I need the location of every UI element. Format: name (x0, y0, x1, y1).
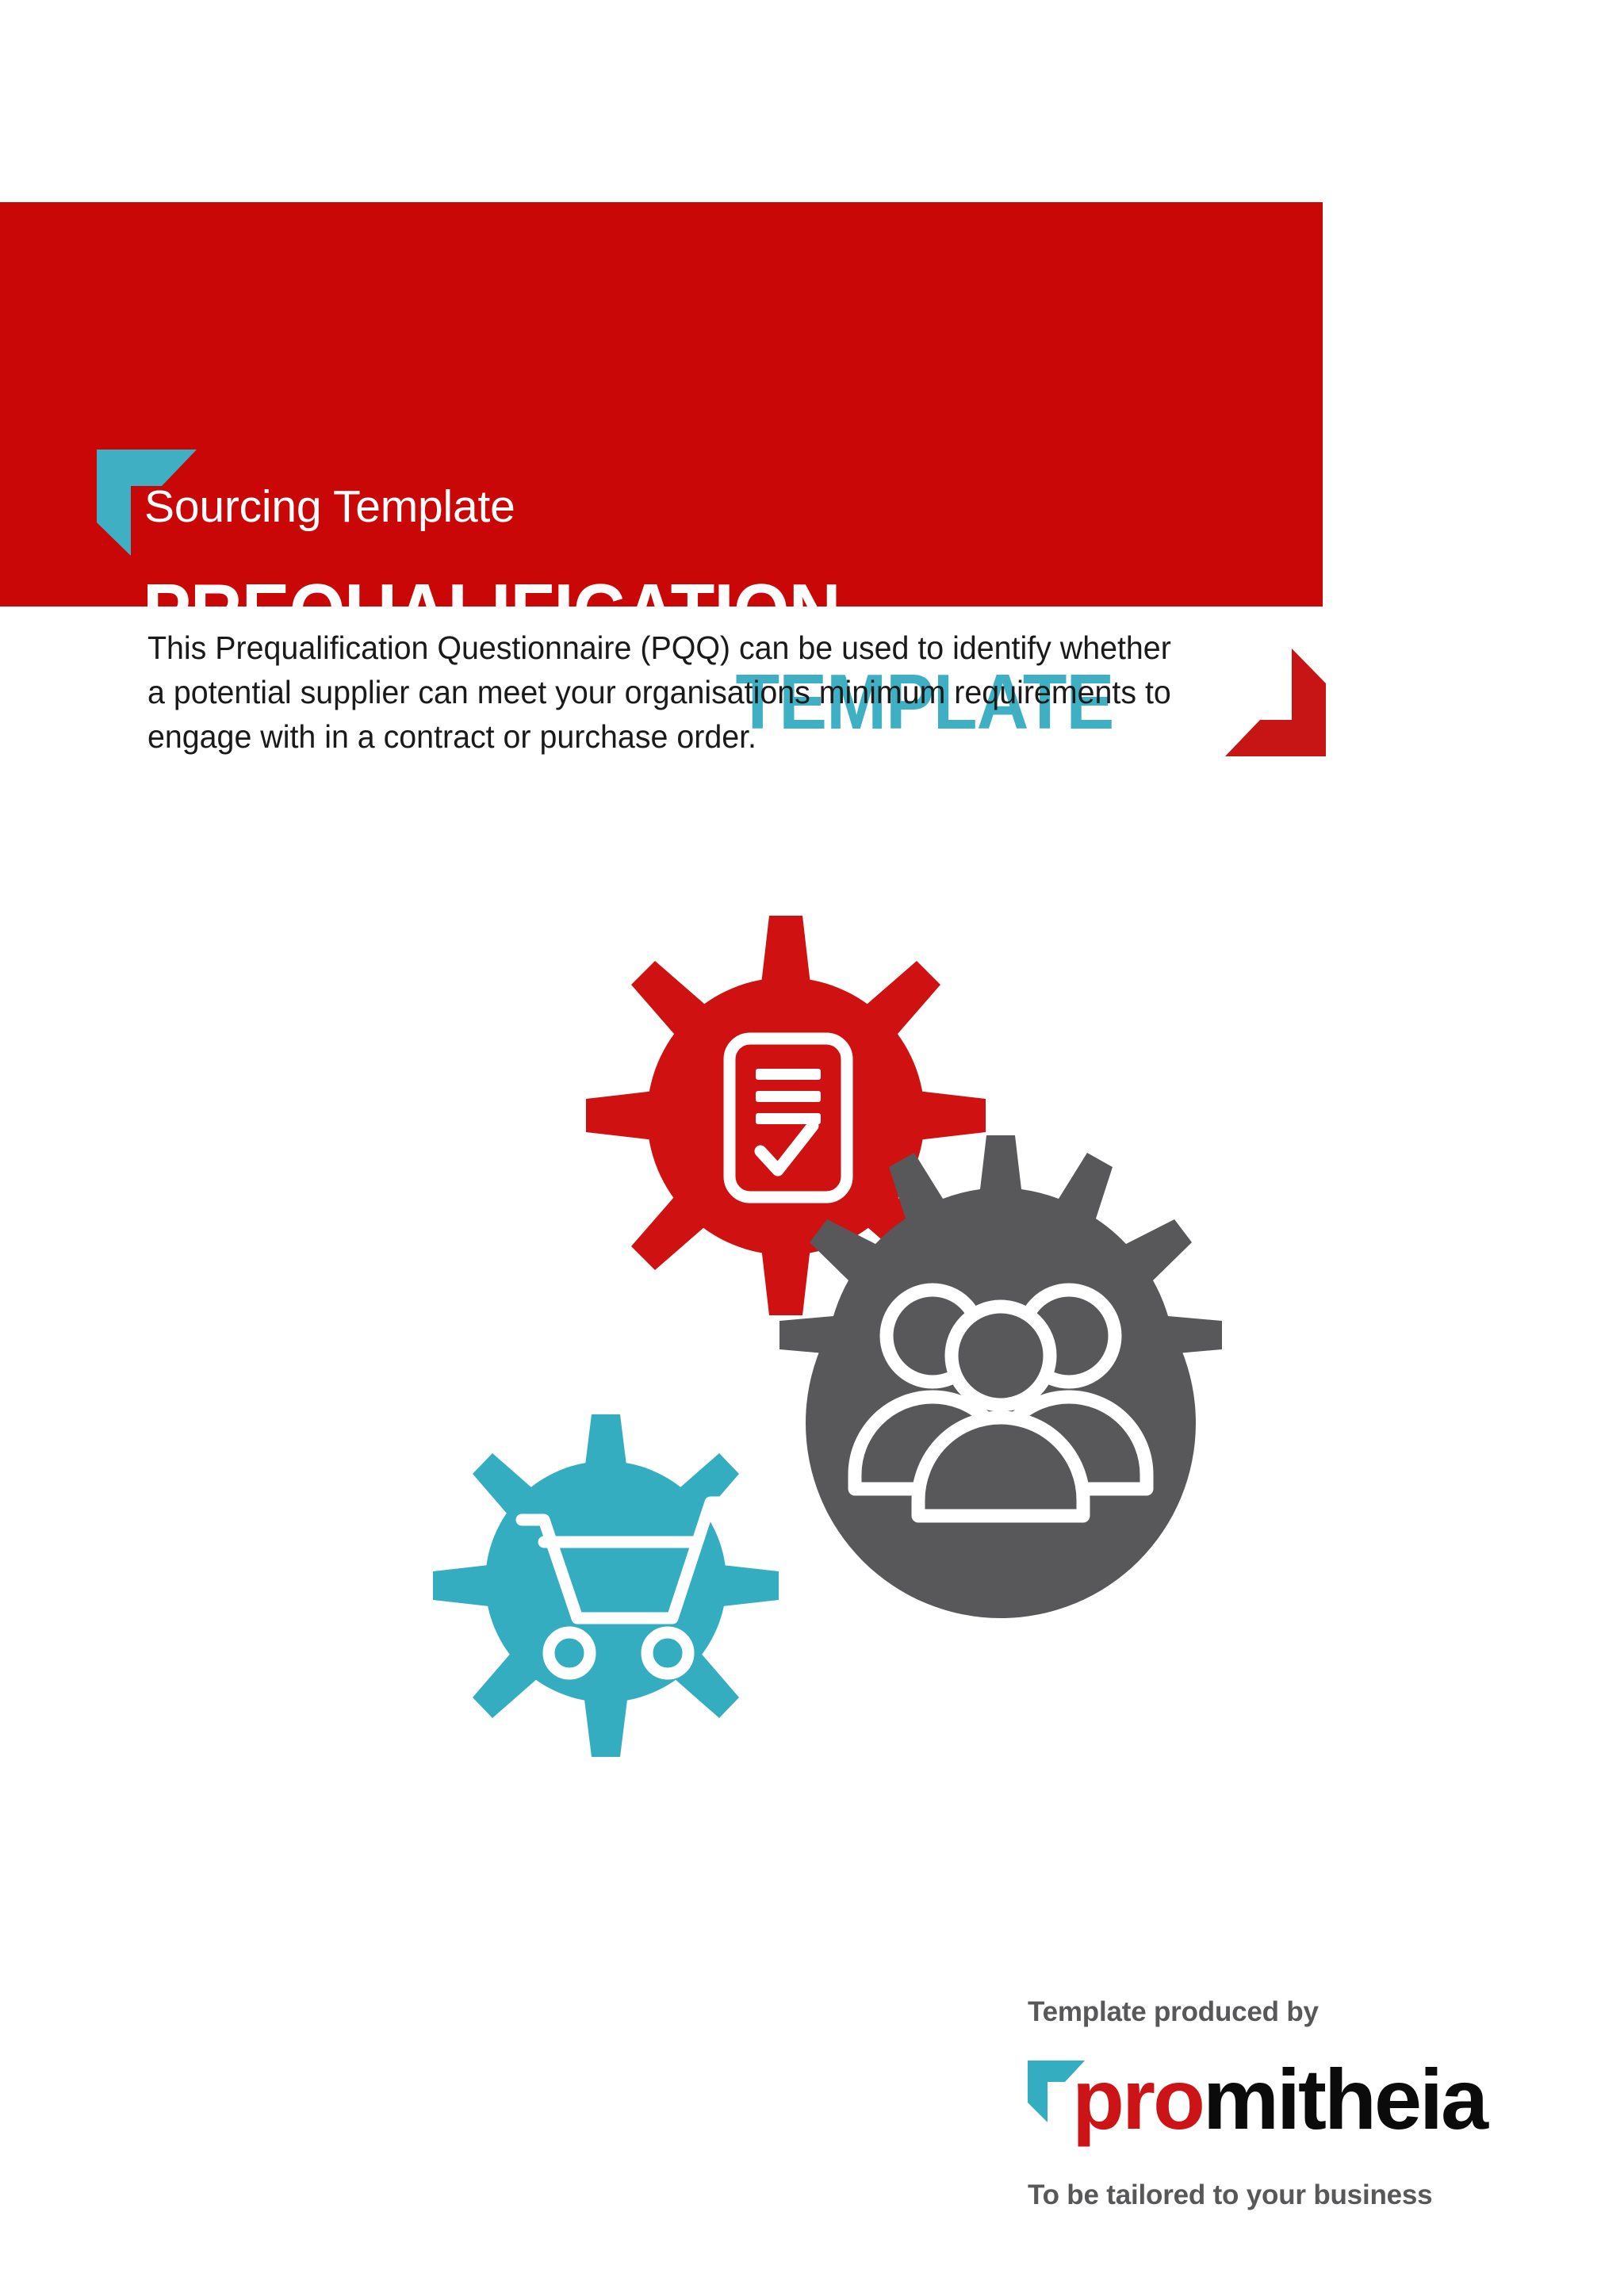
logo-word-mitheia: mitheia (1203, 2051, 1486, 2147)
eyebrow-label: Sourcing Template (144, 484, 515, 530)
footer-block: Template produced by promitheia To be ta… (1028, 1998, 1519, 2209)
produced-by-label: Template produced by (1028, 1998, 1519, 2026)
footer-tagline: To be tailored to your business (1028, 2181, 1519, 2209)
logo-word-pro: pro (1072, 2051, 1203, 2147)
shopping-cart-gear (433, 1414, 779, 1757)
three-interlocking-gears-graphic (373, 904, 1300, 1800)
promitheia-wordmark: promitheia (1072, 2053, 1486, 2147)
document-cover-page: Sourcing Template PREQUALIFICATION QUEST… (0, 0, 1624, 2296)
header-banner: Sourcing Template PREQUALIFICATION QUEST… (0, 202, 1323, 607)
corner-flag-icon (1225, 649, 1326, 756)
intro-paragraph: This Prequalification Questionnaire (PQQ… (147, 626, 1183, 759)
promitheia-logo: promitheia (1028, 2059, 1519, 2154)
